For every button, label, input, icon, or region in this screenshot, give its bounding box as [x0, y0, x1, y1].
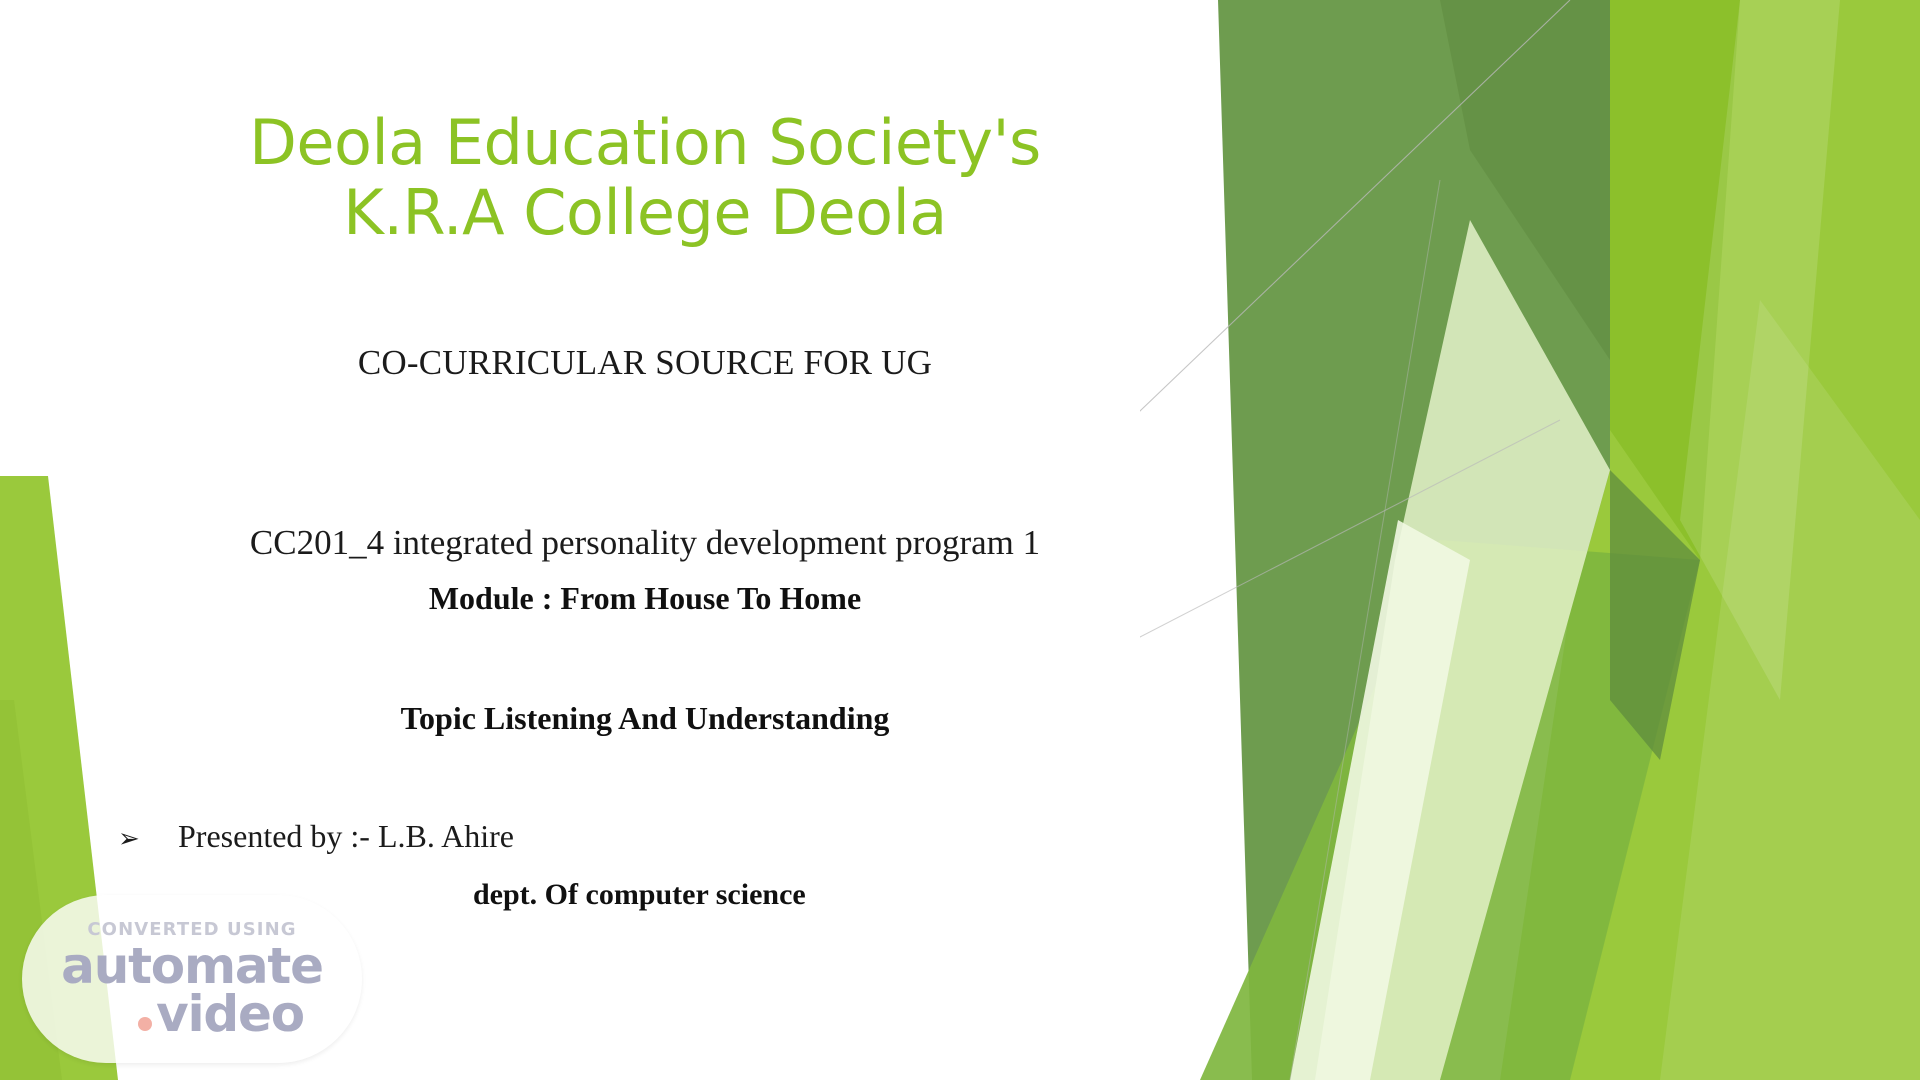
watermark-suffix-row: video	[80, 989, 304, 1039]
presenter-name: Presented by :- L.B. Ahire	[178, 818, 514, 855]
title-line-1: Deola Education Society's	[0, 108, 1290, 178]
presentation-slide: Deola Education Society's K.R.A College …	[0, 0, 1920, 1080]
chevron-bullet-icon: ➢	[118, 826, 178, 852]
watermark-suffix: video	[156, 989, 304, 1039]
module-line: Module : From House To Home	[0, 580, 1290, 617]
course-code-line: CC201_4 integrated personality developme…	[0, 523, 1290, 563]
topic-line: Topic Listening And Understanding	[0, 700, 1290, 737]
presenter-row: ➢ Presented by :- L.B. Ahire	[118, 818, 514, 855]
slide-subtitle: CO-CURRICULAR SOURCE FOR UG	[0, 343, 1290, 383]
slide-title: Deola Education Society's K.R.A College …	[0, 108, 1290, 248]
automate-video-watermark: CONVERTED USING automate video	[22, 895, 362, 1063]
title-line-2: K.R.A College Deola	[0, 178, 1290, 248]
watermark-dot-icon	[138, 1017, 152, 1031]
department-line: dept. Of computer science	[473, 878, 806, 912]
watermark-brand: automate	[61, 941, 323, 991]
